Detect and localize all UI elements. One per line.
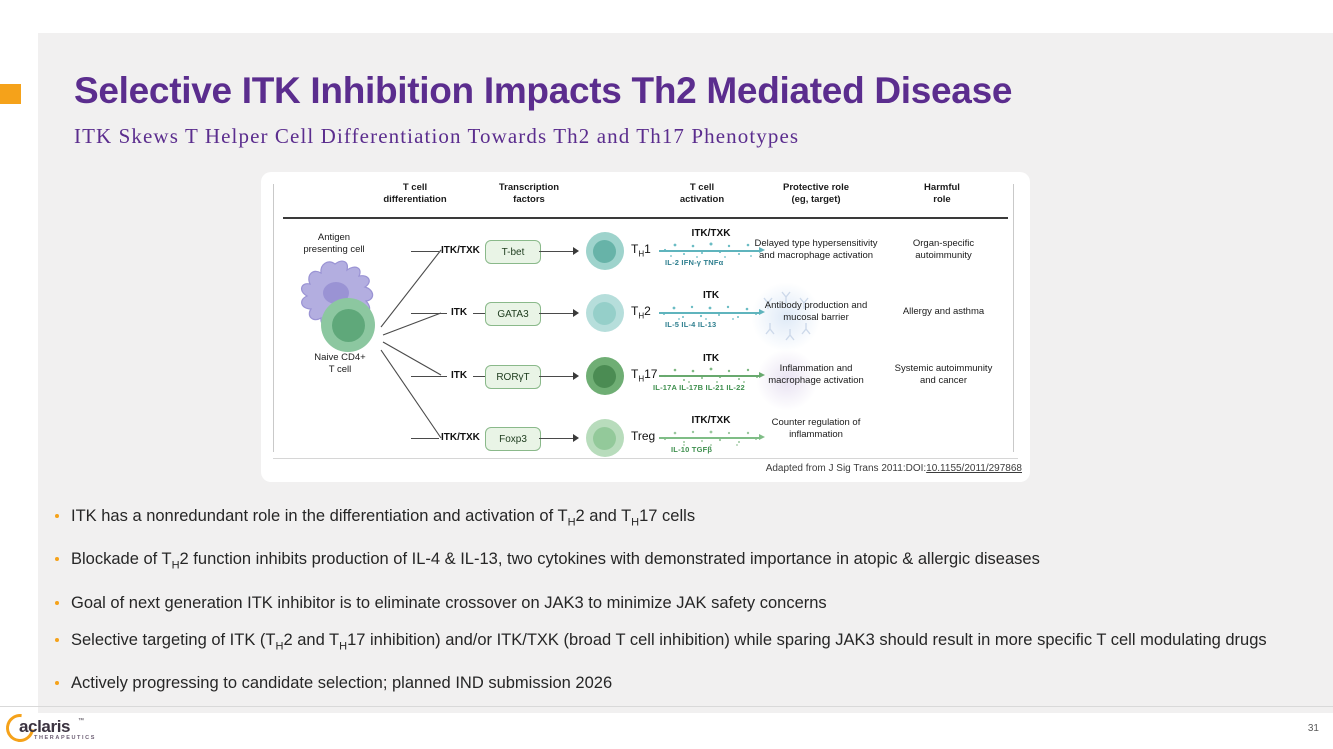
inhibitor-label-th17: ITK bbox=[451, 370, 467, 381]
treg-cell-nucleus bbox=[593, 427, 616, 450]
row-arrow-line bbox=[539, 438, 573, 439]
treg-label: Treg bbox=[631, 429, 655, 443]
pathway-diagram-card: T celldifferentiation Transcriptionfacto… bbox=[261, 172, 1030, 482]
pathway-row-th1: ITK/TXK T-bet TH1 ITK/TXK IL-2 IFN-γ TNF… bbox=[261, 230, 1030, 292]
list-item: Blockade of TH2 function inhibits produc… bbox=[52, 548, 1277, 577]
inhibitor-label-th2: ITK bbox=[451, 307, 467, 318]
row-lead-line bbox=[411, 376, 447, 377]
row-arrow-head bbox=[573, 434, 579, 442]
th2-cell-nucleus bbox=[593, 302, 616, 325]
column-header-t-cell-differentiation: T celldifferentiation bbox=[355, 182, 475, 205]
list-item: Actively progressing to candidate select… bbox=[52, 672, 1277, 695]
row-lead-line bbox=[411, 438, 439, 439]
th2-label: TH2 bbox=[631, 304, 651, 320]
pathway-row-th17: ITK RORγT TH17 ITK IL-17A IL-17B IL-21 I… bbox=[261, 355, 1030, 417]
th17-label: TH17 bbox=[631, 367, 657, 383]
pathway-row-th2: ITK GATA3 TH2 ITK IL-5 IL-4 IL-13 Antib bbox=[261, 292, 1030, 354]
inhibitor-label-treg: ITK/TXK bbox=[441, 432, 480, 443]
list-item: ITK has a nonredundant role in the diffe… bbox=[52, 505, 1277, 534]
citation-divider bbox=[273, 458, 1018, 459]
transcription-factor-rorgt: RORγT bbox=[485, 365, 541, 389]
protective-role-treg: Counter regulation ofinflammation bbox=[741, 417, 891, 441]
transcription-factor-foxp3: Foxp3 bbox=[485, 427, 541, 451]
accent-square bbox=[0, 84, 21, 104]
harmful-role-th2: Allergy and asthma bbox=[876, 306, 1011, 318]
treg-cell-icon bbox=[586, 419, 624, 457]
column-header-protective-role: Protective role(eg, target) bbox=[741, 182, 891, 205]
row-lead-line bbox=[411, 313, 447, 314]
logo-trademark: ™ bbox=[78, 718, 84, 724]
cytokines-th17: IL-17A IL-17B IL-21 IL-22 bbox=[653, 383, 745, 392]
cytokines-th1: IL-2 IFN-γ TNFα bbox=[665, 258, 723, 267]
transcription-factor-gata3: GATA3 bbox=[485, 302, 541, 326]
row-arrow-head bbox=[573, 309, 579, 317]
citation: Adapted from J Sig Trans 2011:DOI:10.115… bbox=[261, 463, 1030, 474]
protective-role-th2: Antibody production andmucosal barrier bbox=[741, 300, 891, 324]
page-number: 31 bbox=[1308, 723, 1319, 734]
row-lead-line bbox=[411, 251, 439, 252]
cytokines-treg: IL-10 TGFβ bbox=[671, 445, 712, 454]
logo-wordmark: aclaris bbox=[19, 717, 70, 737]
row-arrow-head bbox=[573, 372, 579, 380]
cytokines-th2: IL-5 IL-4 IL-13 bbox=[665, 320, 716, 329]
transcription-factor-t-bet: T-bet bbox=[485, 240, 541, 264]
header-divider bbox=[283, 217, 1008, 219]
page-title: Selective ITK Inhibition Impacts Th2 Med… bbox=[74, 70, 1174, 112]
th1-cell-nucleus bbox=[593, 240, 616, 263]
row-arrow-head bbox=[573, 247, 579, 255]
footer-divider bbox=[0, 706, 1333, 707]
page-subtitle: ITK Skews T Helper Cell Differentiation … bbox=[74, 124, 1174, 149]
row-arrow-line bbox=[539, 376, 573, 377]
harmful-role-th17: Systemic autoimmunityand cancer bbox=[876, 363, 1011, 387]
list-item: Selective targeting of ITK (TH2 and TH17… bbox=[52, 629, 1277, 658]
protective-role-th1: Delayed type hypersensitivityand macroph… bbox=[741, 238, 891, 262]
th1-label: TH1 bbox=[631, 242, 651, 258]
citation-doi-link[interactable]: 10.1155/2011/297868 bbox=[926, 463, 1022, 474]
diagram-column-headers: T celldifferentiation Transcriptionfacto… bbox=[261, 182, 1030, 216]
row-arrow-line bbox=[539, 313, 573, 314]
th17-cell-nucleus bbox=[593, 365, 616, 388]
protective-role-th17: Inflammation andmacrophage activation bbox=[741, 363, 891, 387]
column-header-harmful-role: Harmfulrole bbox=[872, 182, 1012, 205]
th17-cell-icon bbox=[586, 357, 624, 395]
bullet-list: ITK has a nonredundant role in the diffe… bbox=[52, 505, 1277, 709]
row-arrow-line bbox=[539, 251, 573, 252]
column-header-transcription-factors: Transcriptionfactors bbox=[469, 182, 589, 205]
logo-tagline: THERAPEUTICS bbox=[34, 735, 96, 741]
harmful-role-th1: Organ-specificautoimmunity bbox=[876, 238, 1011, 262]
th2-cell-icon bbox=[586, 294, 624, 332]
inhibitor-label-th1: ITK/TXK bbox=[441, 245, 480, 256]
list-item: Goal of next generation ITK inhibitor is… bbox=[52, 592, 1277, 615]
th1-cell-icon bbox=[586, 232, 624, 270]
aclaris-logo: aclaris ™ THERAPEUTICS bbox=[6, 714, 88, 744]
